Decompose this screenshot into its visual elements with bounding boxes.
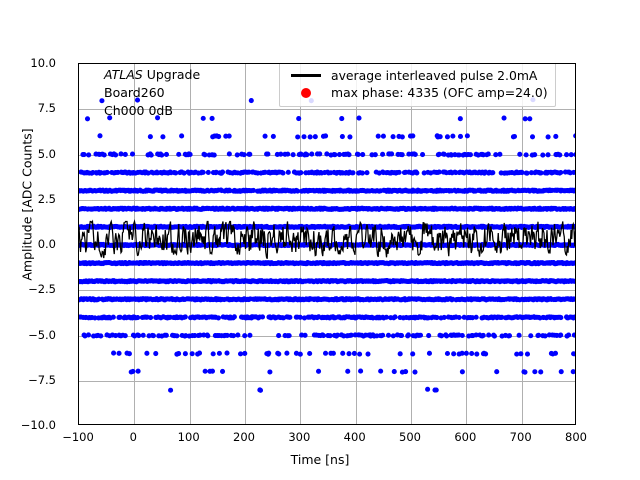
y-tick-label: 2.5 (38, 192, 56, 206)
x-tick-label: 100 (178, 430, 200, 444)
y-tick-label: 7.5 (38, 101, 56, 115)
annotation-line-3: Ch000 0dB (104, 102, 200, 120)
y-tick-label: 0.0 (38, 237, 56, 251)
x-axis-tick (245, 424, 246, 425)
y-tick-label: 5.0 (38, 147, 56, 161)
y-axis-tick (78, 381, 79, 382)
legend-label-average-pulse: average interleaved pulse 2.0mA (325, 68, 537, 83)
x-axis-tick (356, 424, 357, 425)
y-axis-tick (78, 245, 79, 246)
x-tick-label: 0 (130, 430, 137, 444)
line-marker-icon (287, 74, 325, 76)
annotation-line-2: Board260 (104, 84, 200, 102)
y-axis-tick (78, 290, 79, 291)
x-axis-tick (300, 424, 301, 425)
x-axis-tick (134, 424, 135, 425)
x-tick-label: 700 (510, 430, 532, 444)
y-axis-tick (78, 200, 79, 201)
legend-label-max-phase: max phase: 4335 (OFC amp=24.0) (325, 85, 548, 100)
chart-legend: average interleaved pulse 2.0mA max phas… (279, 63, 556, 107)
legend-entry-average-pulse: average interleaved pulse 2.0mA (287, 67, 548, 84)
x-tick-label: 500 (399, 430, 421, 444)
annotation-line-1: ATLAS Upgrade (104, 66, 200, 84)
y-axis-tick (78, 109, 79, 110)
y-axis-tick (78, 64, 79, 65)
atlas-annotation: ATLAS Upgrade Board260 Ch000 0dB (104, 66, 200, 120)
y-tick-label: −10.0 (21, 418, 56, 432)
y-axis-label: Amplitude [ADC Counts] (20, 25, 35, 385)
y-axis-tick (78, 155, 79, 156)
circle-marker-icon (287, 88, 325, 98)
x-axis-tick (466, 424, 467, 425)
x-axis-tick (79, 424, 80, 425)
x-tick-label: 400 (344, 430, 366, 444)
x-tick-label: 800 (565, 430, 587, 444)
figure-canvas: ATLAS Upgrade Board260 Ch000 0dB average… (0, 0, 640, 480)
x-axis-label: Time [ns] (0, 452, 640, 467)
x-tick-label: 600 (454, 430, 476, 444)
x-tick-label: 200 (233, 430, 255, 444)
upgrade-label: Upgrade (143, 67, 200, 82)
x-axis-tick (411, 424, 412, 425)
legend-entry-max-phase: max phase: 4335 (OFC amp=24.0) (287, 84, 548, 101)
x-tick-label: 300 (288, 430, 310, 444)
x-tick-label: −100 (62, 430, 94, 444)
x-axis-tick (190, 424, 191, 425)
y-axis-tick (78, 336, 79, 337)
plot-area: ATLAS Upgrade Board260 Ch000 0dB average… (78, 63, 576, 425)
x-axis-tick (522, 424, 523, 425)
atlas-label: ATLAS (104, 67, 143, 82)
